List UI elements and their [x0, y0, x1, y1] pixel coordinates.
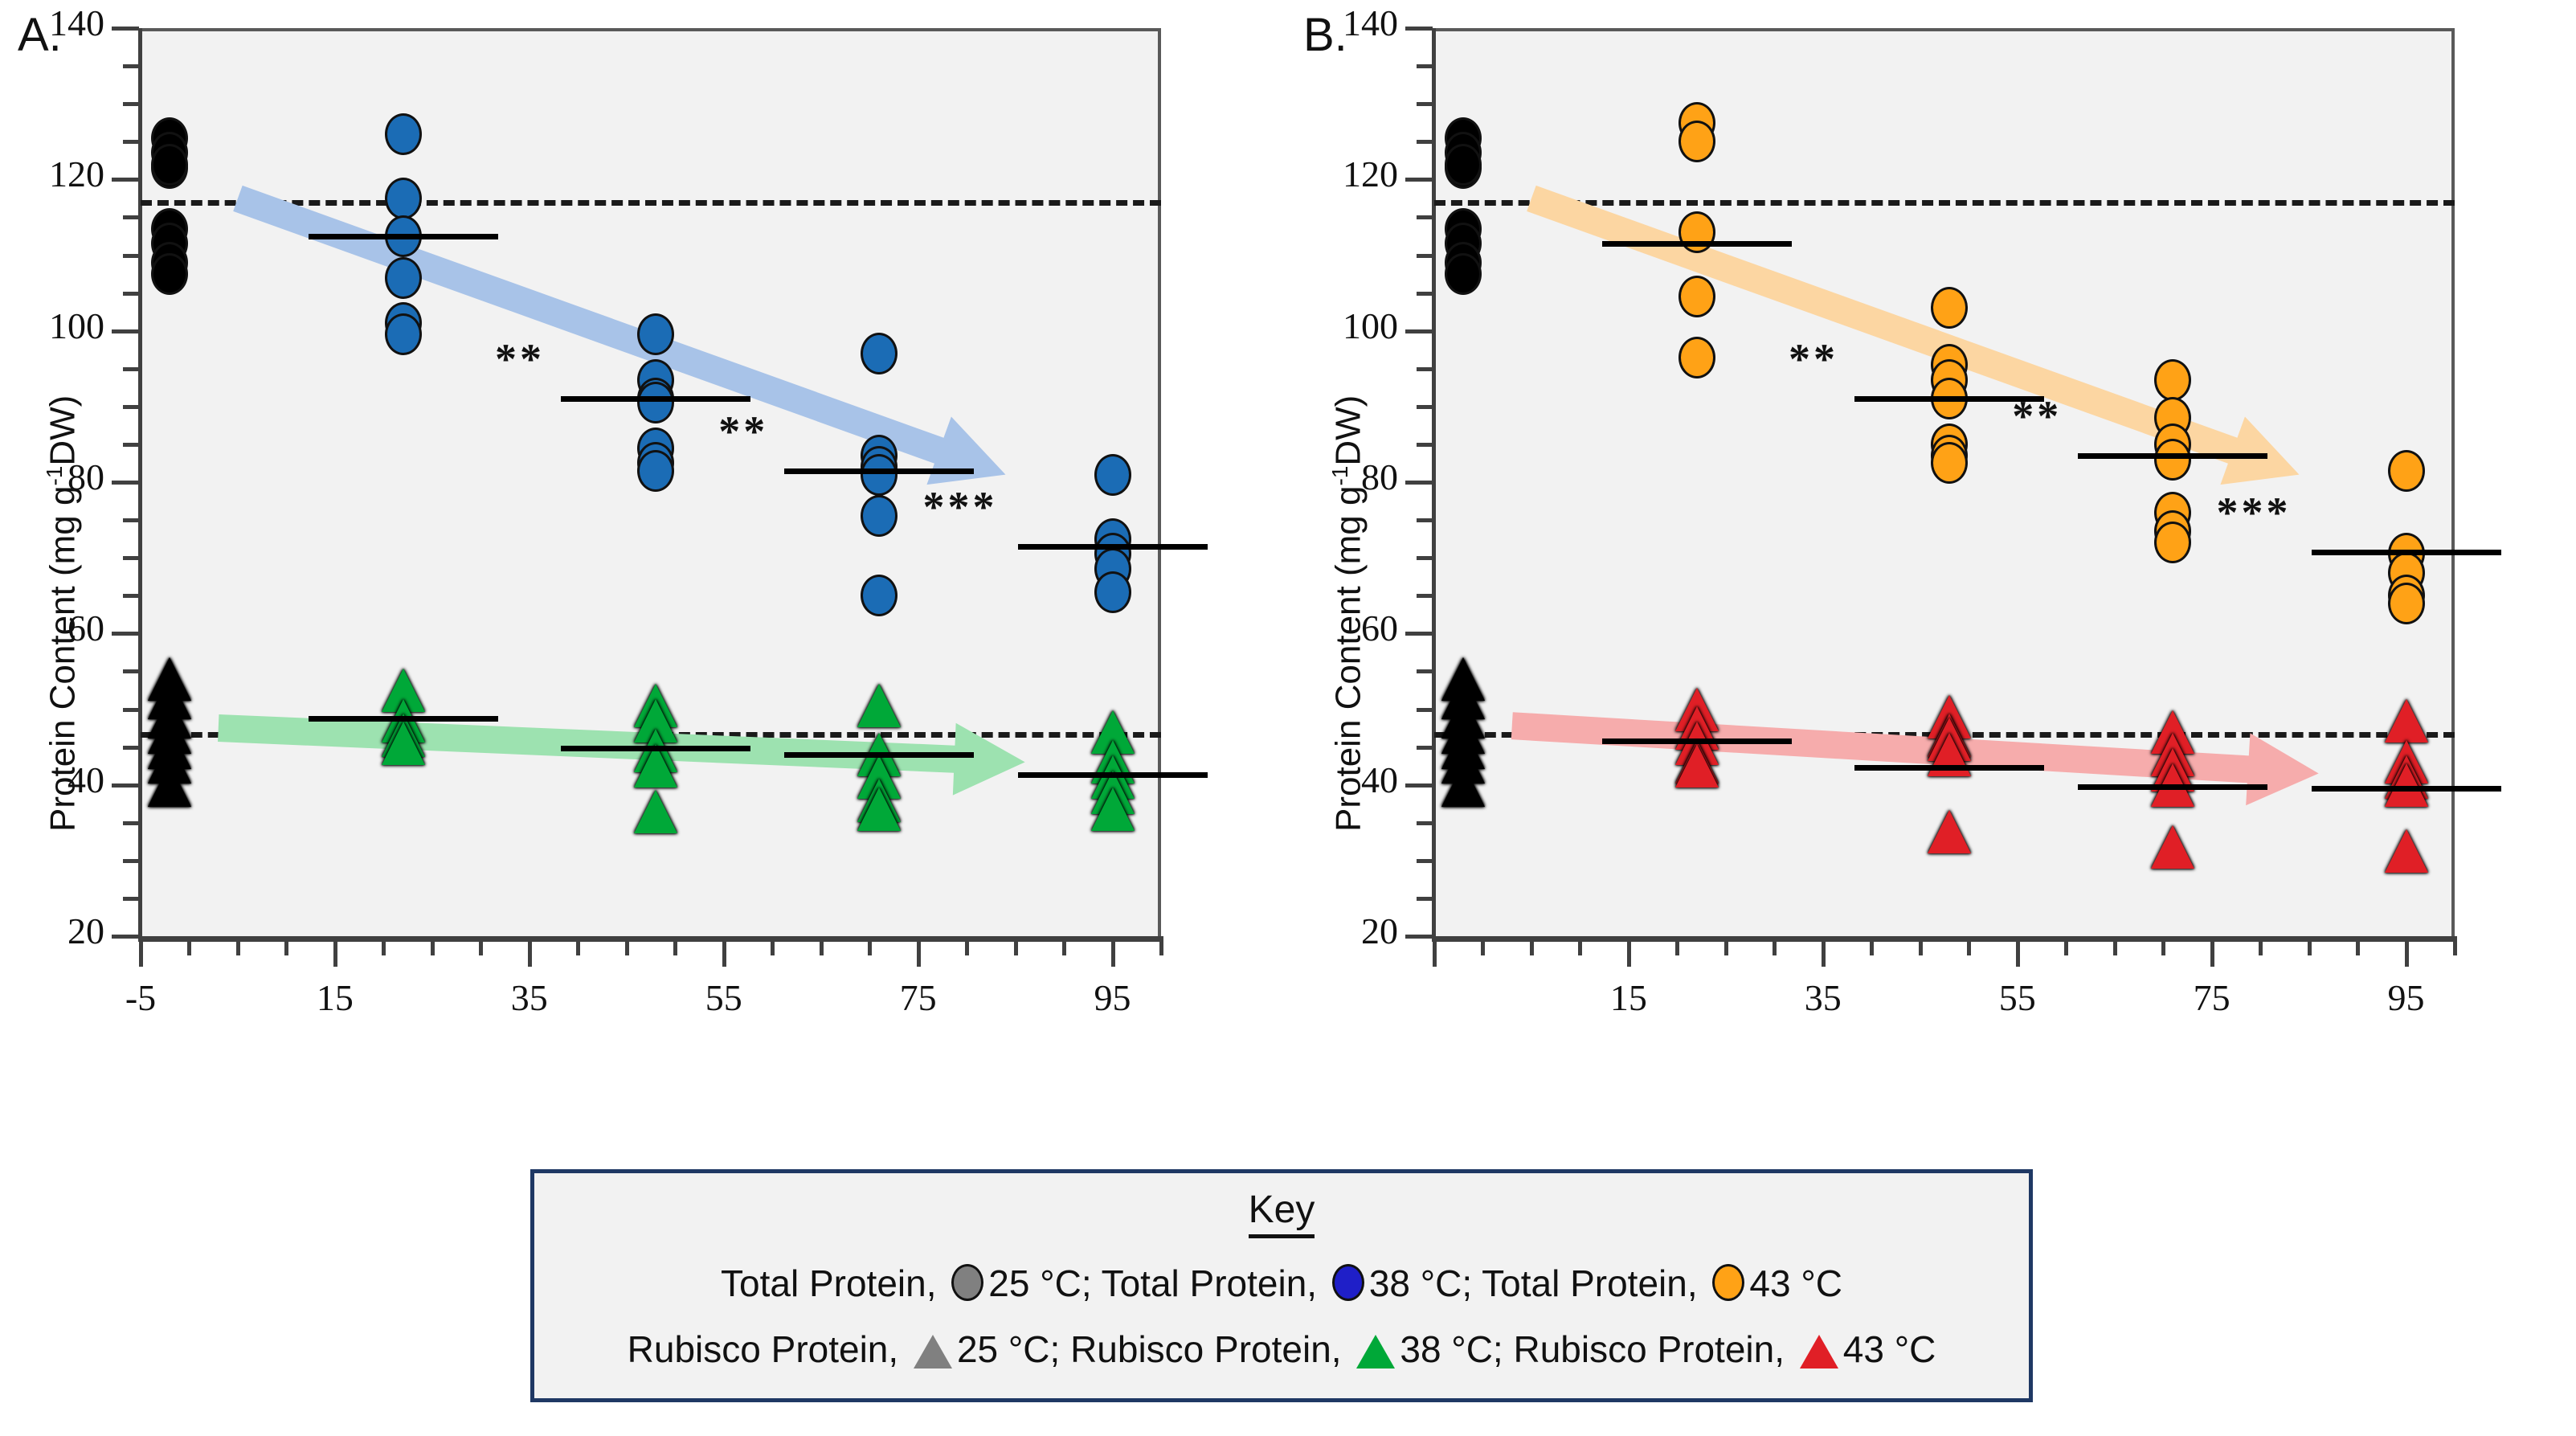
data-point-triangle [148, 763, 191, 807]
legend-temp-43: 43 °C [1749, 1262, 1842, 1304]
legend-temp-38: 38 °C; [1369, 1262, 1472, 1304]
legend-label-total-protein-25: Total Protein, [721, 1262, 936, 1304]
significance-marker: ** [2012, 391, 2062, 441]
group-mean-bar [561, 746, 750, 751]
legend-row-rubisco-protein: Rubisco Protein, 25 °C; Rubisco Protein,… [534, 1328, 2029, 1371]
data-point-circle [1678, 211, 1715, 253]
data-point-circle [385, 313, 422, 355]
legend-label-rubisco-25: Rubisco Protein, [628, 1328, 899, 1370]
data-point-circle [1678, 276, 1715, 317]
data-point-circle [151, 144, 188, 186]
legend-circle-grey-icon [951, 1264, 983, 1301]
data-point-circle [385, 178, 422, 219]
significance-marker: *** [2217, 488, 2292, 538]
group-mean-bar [1854, 765, 2044, 771]
group-mean-bar [309, 716, 498, 722]
panel-a: A. Protein Content (mg g-1DW) 2040608010… [0, 0, 1286, 1069]
data-point-triangle [2151, 825, 2194, 869]
data-point-circle [861, 333, 898, 374]
legend-label-rubisco-43: Rubisco Protein, [1513, 1328, 1785, 1370]
legend-triangle-grey-icon [914, 1335, 952, 1368]
group-mean-bar [2312, 786, 2501, 792]
data-point-circle [151, 253, 188, 295]
significance-marker: ** [1789, 334, 1838, 384]
panel-b: B. Protein Content (mg g-1DW) 2040608010… [1286, 0, 2576, 1069]
data-point-circle [1445, 144, 1482, 186]
group-mean-bar [1602, 738, 1792, 744]
data-point-circle [1094, 571, 1131, 613]
group-mean-bar [784, 752, 974, 758]
data-point-circle [1678, 337, 1715, 378]
data-point-circle [2154, 439, 2191, 481]
data-point-circle [2388, 450, 2425, 492]
data-point-circle [1678, 121, 1715, 162]
legend-temp-rub-43: 43 °C [1843, 1328, 1936, 1370]
legend-triangle-red-icon [1800, 1335, 1838, 1368]
data-point-triangle [2385, 763, 2428, 807]
data-point-triangle [857, 684, 901, 727]
group-mean-bar [1018, 772, 1208, 778]
group-mean-bar [1602, 241, 1792, 247]
data-point-triangle [2385, 699, 2428, 743]
legend-circle-orange-icon [1712, 1264, 1744, 1301]
data-point-circle [861, 454, 898, 496]
group-mean-bar [2078, 784, 2267, 790]
legend-key-box: Key Total Protein, 25 °C; Total Protein,… [530, 1169, 2033, 1402]
significance-marker: ** [495, 334, 545, 384]
legend-label-total-protein-43: Total Protein, [1482, 1262, 1697, 1304]
legend-title-text: Key [1249, 1188, 1315, 1238]
data-point-circle [637, 450, 674, 492]
data-point-circle [1094, 454, 1131, 496]
legend-temp-25: 25 °C; [988, 1262, 1091, 1304]
data-point-circle [385, 113, 422, 155]
group-mean-bar [1018, 544, 1208, 550]
legend-circle-blue-icon [1332, 1264, 1364, 1301]
data-point-circle [637, 382, 674, 423]
group-mean-bar [784, 468, 974, 474]
data-point-circle [2154, 359, 2191, 401]
group-mean-bar [561, 396, 750, 402]
legend-label-total-protein-38: Total Protein, [1102, 1262, 1317, 1304]
data-point-circle [2388, 583, 2425, 624]
group-mean-bar [2312, 550, 2501, 555]
group-mean-bar [2078, 453, 2267, 459]
significance-marker: *** [923, 482, 998, 532]
legend-triangle-green-icon [1356, 1335, 1395, 1368]
data-point-triangle [857, 788, 901, 831]
legend-temp-rub-25: 25 °C; [957, 1328, 1060, 1370]
legend-temp-rub-38: 38 °C; [1400, 1328, 1503, 1370]
data-point-triangle [382, 722, 425, 765]
data-point-triangle [1091, 788, 1135, 831]
legend-row-total-protein: Total Protein, 25 °C; Total Protein, 38 … [534, 1262, 2029, 1305]
legend-label-rubisco-38: Rubisco Protein, [1070, 1328, 1342, 1370]
group-mean-bar [309, 234, 498, 239]
legend-title: Key [534, 1188, 2029, 1232]
data-point-circle [385, 257, 422, 299]
data-point-triangle [2385, 829, 2428, 873]
data-point-triangle [634, 790, 677, 833]
data-point-triangle [1441, 763, 1485, 807]
significance-marker: ** [718, 407, 768, 456]
data-point-triangle [1675, 744, 1719, 788]
data-point-triangle [1928, 810, 1971, 853]
data-point-circle [1445, 253, 1482, 295]
